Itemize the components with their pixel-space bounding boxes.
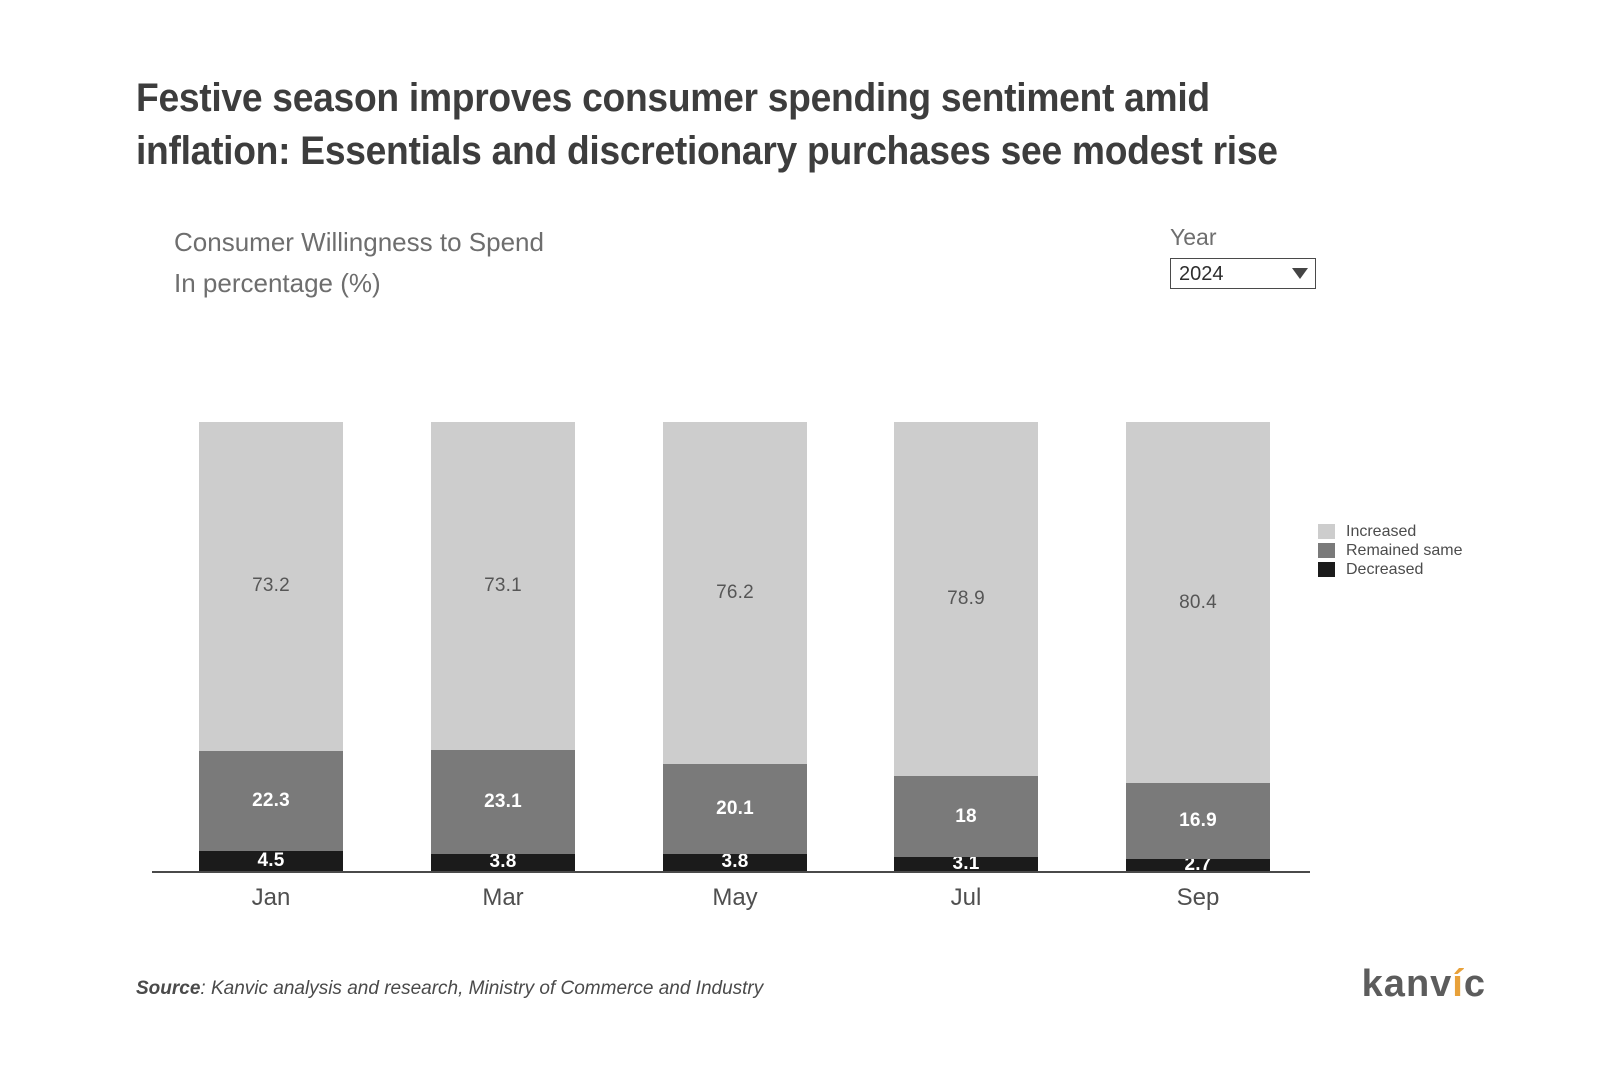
- legend-swatch-icon: [1318, 543, 1335, 558]
- x-axis-tick-label: May: [663, 884, 807, 912]
- bar-segment[interactable]: 23.1: [431, 750, 575, 854]
- bar-group: 4.522.373.2: [199, 422, 343, 871]
- logo-text-after: c: [1464, 963, 1486, 1005]
- source-note: Source: Kanvic analysis and research, Mi…: [136, 978, 763, 1000]
- legend-item-label: Remained same: [1346, 541, 1463, 560]
- x-axis-tick-label: Mar: [431, 884, 575, 912]
- bar-segment-value: 22.3: [252, 790, 290, 812]
- x-axis-tick-label: Jul: [894, 884, 1038, 912]
- bar-segment[interactable]: 78.9: [894, 422, 1038, 776]
- bar-segment-value: 20.1: [716, 798, 754, 820]
- bar-group: 3.823.173.1: [431, 422, 575, 871]
- bar-segment[interactable]: 22.3: [199, 751, 343, 851]
- bar-segment-value: 76.2: [716, 582, 754, 604]
- bar-segment[interactable]: 3.8: [431, 854, 575, 871]
- bar-segment-value: 4.5: [257, 850, 284, 872]
- legend-item-label: Decreased: [1346, 560, 1423, 579]
- chart-legend: IncreasedRemained sameDecreased: [1318, 522, 1463, 579]
- bar-group: 3.11878.9: [894, 422, 1038, 871]
- bar-segment-value: 73.1: [484, 575, 522, 597]
- bar-segment-value: 73.2: [252, 575, 290, 597]
- bar-segment[interactable]: 73.1: [431, 422, 575, 750]
- source-text: : Kanvic analysis and research, Ministry…: [200, 978, 763, 999]
- bar-segment[interactable]: 73.2: [199, 422, 343, 751]
- bar-segment[interactable]: 76.2: [663, 422, 807, 764]
- logo-text-before: kanv: [1362, 963, 1453, 1005]
- legend-item[interactable]: Increased: [1318, 522, 1463, 541]
- bar-segment-value: 16.9: [1179, 810, 1217, 832]
- bar-group: 2.716.980.4: [1126, 422, 1270, 871]
- bar-segment[interactable]: 3.8: [663, 854, 807, 871]
- bar-segment-value: 23.1: [484, 791, 522, 813]
- bar-segment-value: 80.4: [1179, 592, 1217, 614]
- x-axis-tick-label: Sep: [1126, 884, 1270, 912]
- bar-segment-value: 78.9: [947, 588, 985, 610]
- bar-segment[interactable]: 16.9: [1126, 783, 1270, 859]
- bar-group: 3.820.176.2: [663, 422, 807, 871]
- legend-swatch-icon: [1318, 524, 1335, 539]
- legend-item[interactable]: Remained same: [1318, 541, 1463, 560]
- bar-segment-value: 18: [955, 806, 977, 828]
- legend-swatch-icon: [1318, 562, 1335, 577]
- bar-segment[interactable]: 2.7: [1126, 859, 1270, 871]
- legend-item-label: Increased: [1346, 522, 1416, 541]
- source-prefix: Source: [136, 978, 200, 999]
- legend-item[interactable]: Decreased: [1318, 560, 1463, 579]
- bar-segment[interactable]: 3.1: [894, 857, 1038, 871]
- bar-segment[interactable]: 18: [894, 776, 1038, 857]
- x-axis-line: [152, 871, 1310, 873]
- x-axis-tick-label: Jan: [199, 884, 343, 912]
- kanvic-logo: kanvíc: [1362, 962, 1486, 1006]
- bar-segment[interactable]: 80.4: [1126, 422, 1270, 783]
- logo-accent-glyph: í: [1452, 963, 1464, 1005]
- bar-segment[interactable]: 4.5: [199, 851, 343, 871]
- bar-segment[interactable]: 20.1: [663, 764, 807, 854]
